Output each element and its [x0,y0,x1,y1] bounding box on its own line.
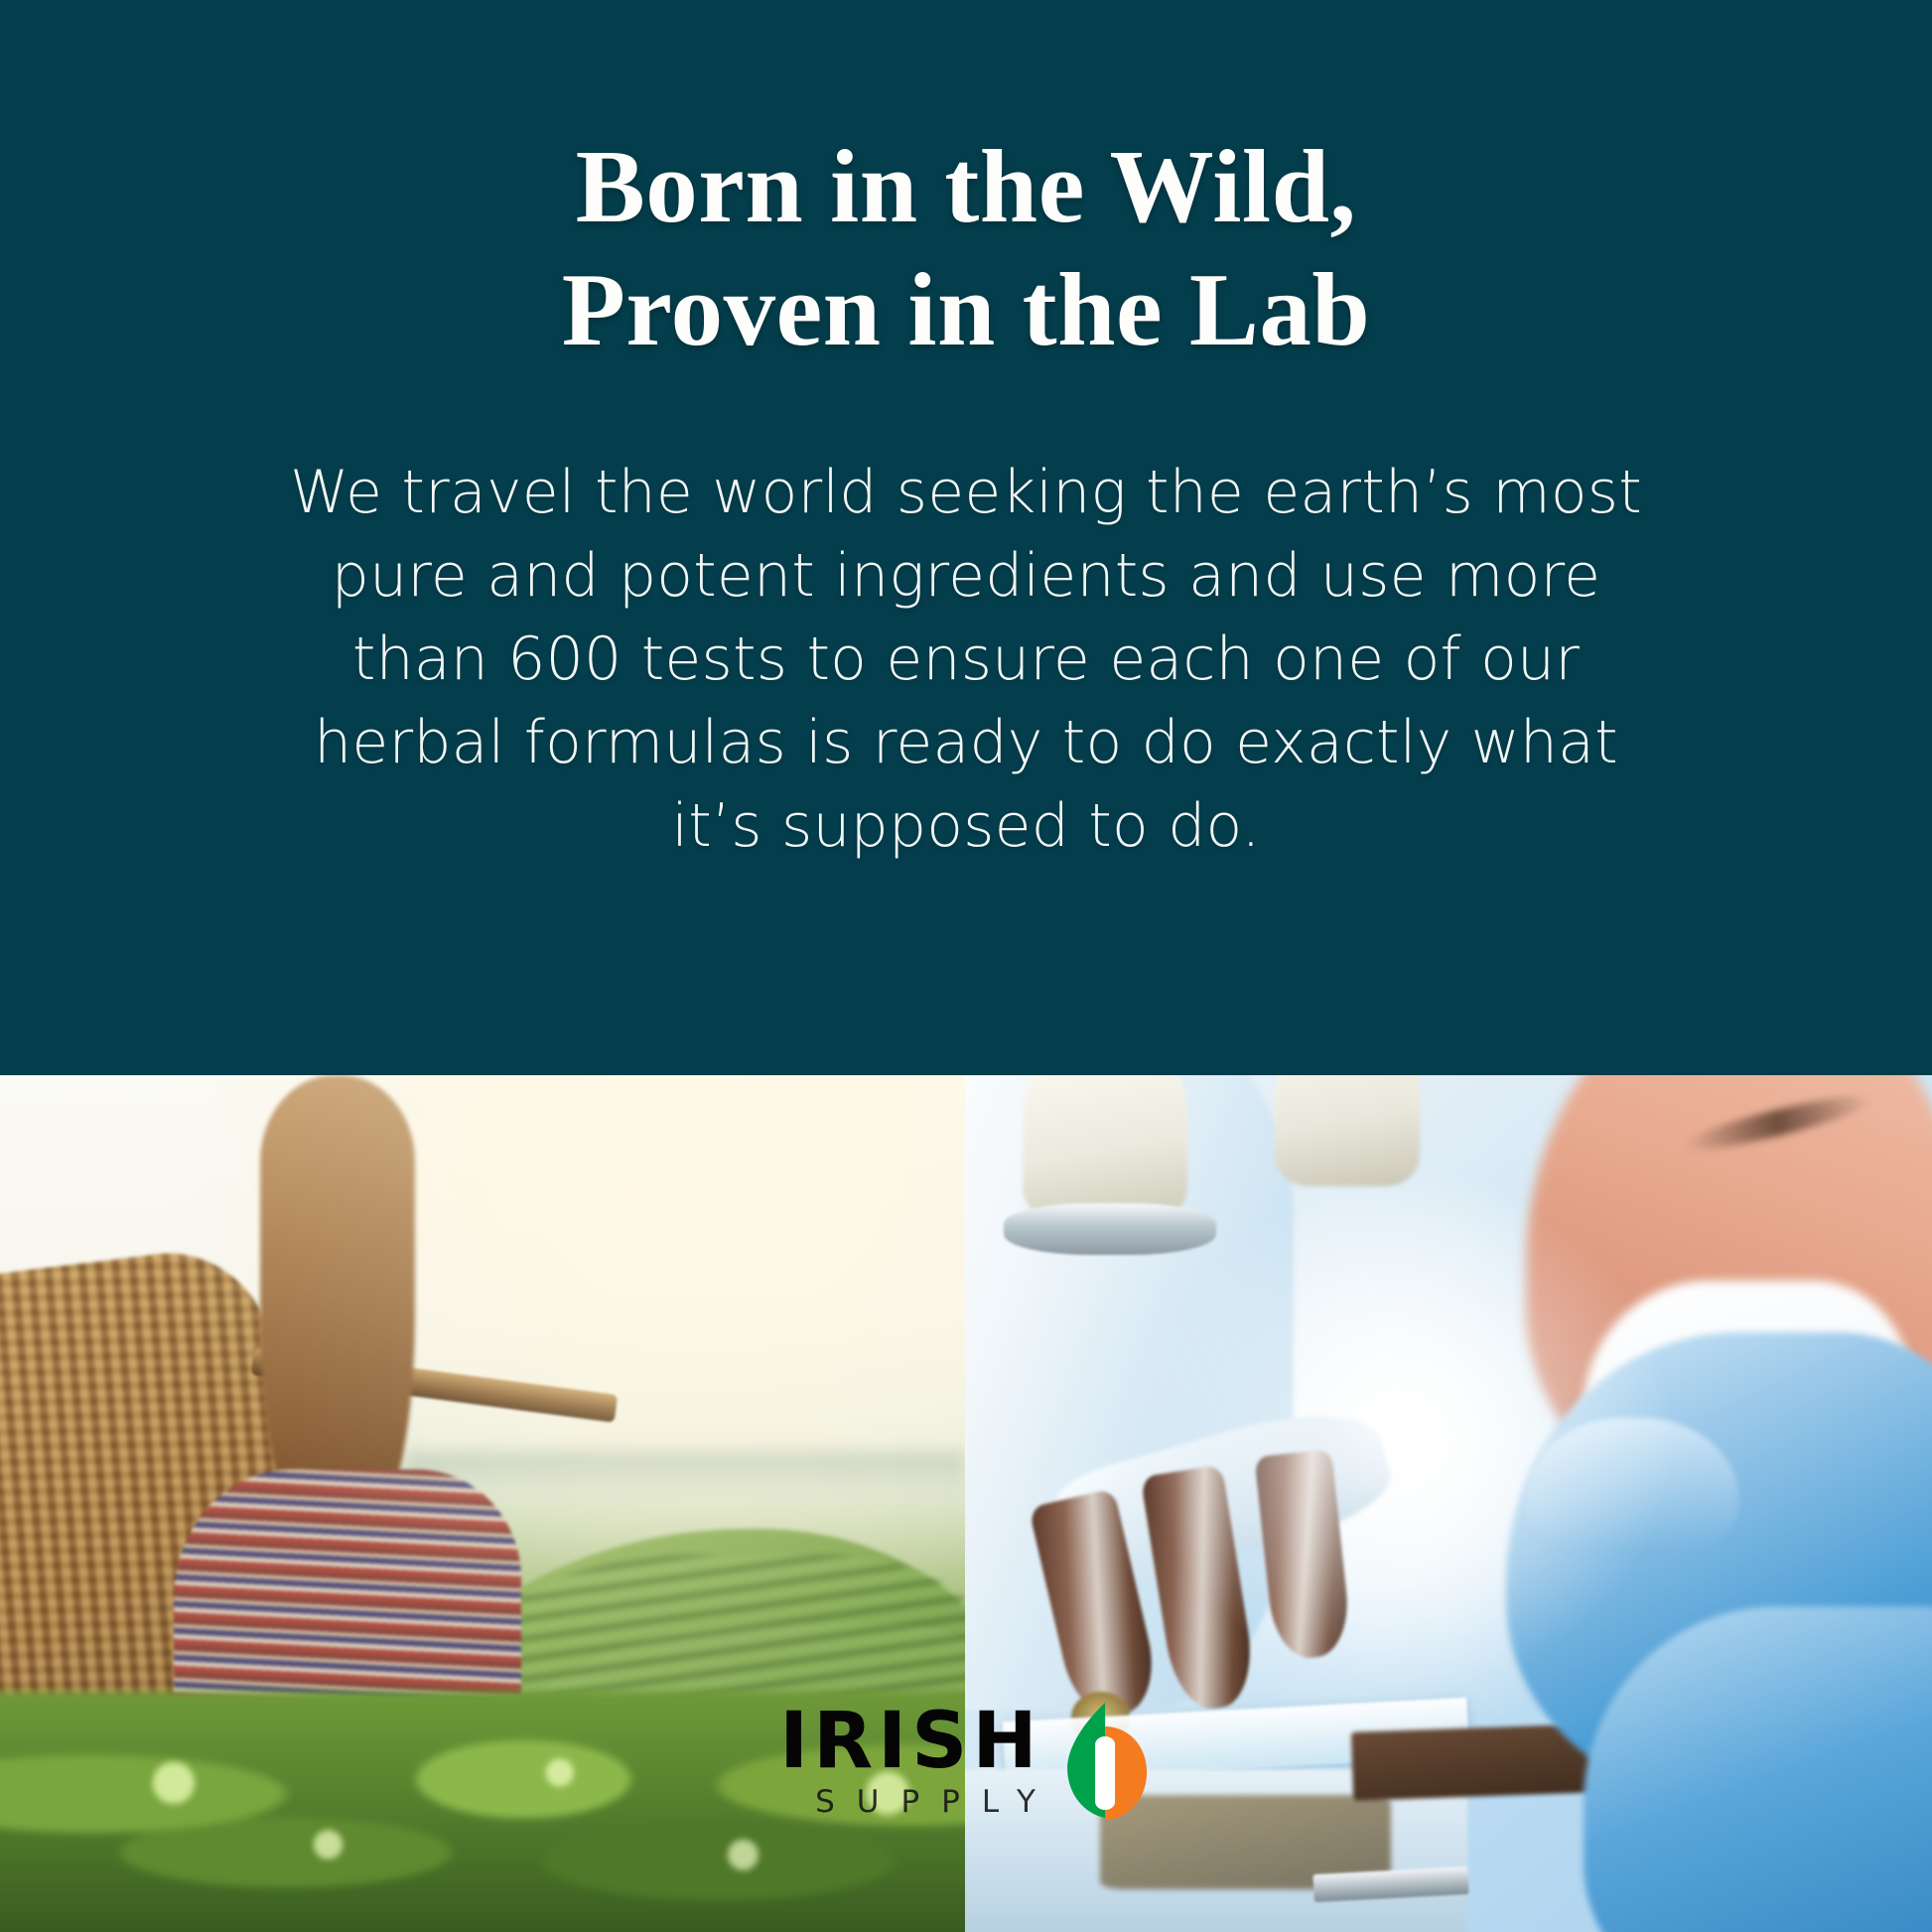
treeline-haze [405,1452,965,1495]
microscope-metal-ring [1004,1203,1216,1255]
gloved-fingers [1526,1418,1738,1555]
hero-paragraph: We travel the world seeking the earth’s … [261,451,1671,868]
brand-logo[interactable]: IRISH SUPPLY [779,1701,1153,1824]
headline-line-1: Born in the Wild, [576,128,1357,244]
promo-graphic: Born in the Wild, Proven in the Lab We t… [0,0,1932,1932]
logo-wordmark: IRISH SUPPLY [779,1707,1057,1819]
logo-secondary-text: SUPPLY [815,1787,1057,1818]
headline-line-2: Proven in the Lab [271,248,1661,371]
page-title: Born in the Wild, Proven in the Lab [271,125,1661,371]
microscope-eyepiece-right [1275,1075,1420,1186]
hero-panel: Born in the Wild, Proven in the Lab We t… [0,0,1932,1075]
logo-primary-text: IRISH [779,1707,1057,1778]
microscope-eyepiece-left [1023,1075,1187,1221]
irish-flag-leaf-emblem-icon [1057,1697,1153,1824]
